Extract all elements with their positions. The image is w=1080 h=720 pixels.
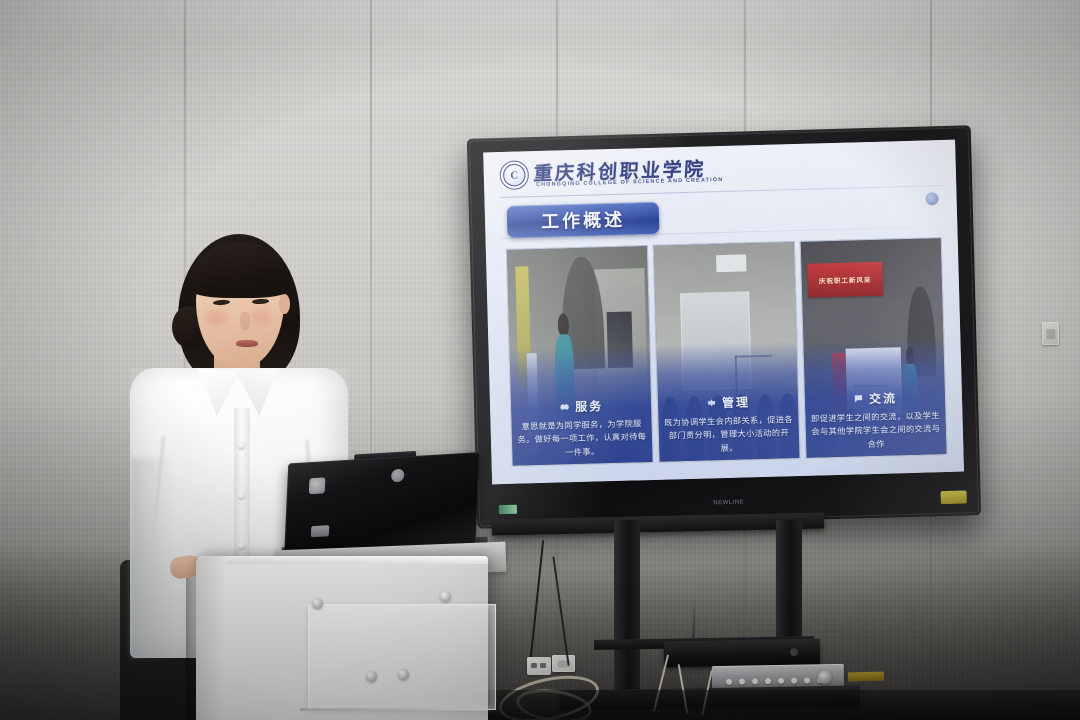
ceiling-light-falloff [0, 0, 1080, 40]
caption-body: 既为协调学生会内部关系，促进各部门责分明，管理大小活动的开展。 [658, 413, 799, 457]
yellow-tape-marker [848, 672, 884, 682]
amplifier-volume-knob[interactable] [818, 670, 832, 684]
presentation-slide: C 重庆科创职业学院 CHONGQING COLLEGE OF SCIENCE … [483, 140, 964, 485]
podium-sign-holder [308, 604, 496, 710]
caption-title: 交流 [869, 390, 897, 408]
podium-bottom-rule [300, 708, 488, 711]
floor-power-outlet[interactable] [527, 657, 551, 675]
display-brand-label: NEWLINE [713, 500, 744, 507]
crest-letter: C [510, 170, 518, 182]
slide-title: 工作概述 [541, 206, 626, 234]
caption-body: 即促进学生之间的交流，以及学生会与其他学院学生会之间的交流与合作 [805, 409, 946, 453]
podium [196, 556, 488, 720]
light-switch-plate[interactable] [1042, 322, 1059, 345]
laptop-lid [284, 452, 480, 556]
slide-title-banner: 工作概述 [507, 202, 660, 238]
sign-standoff [398, 669, 409, 680]
interactive-flat-panel[interactable]: C 重庆科创职业学院 CHONGQING COLLEGE OF SCIENCE … [467, 125, 981, 528]
slide-panel-communication: 庆祝职工新风采 交流 [800, 237, 948, 459]
slide-panel-management: 管理 既为协调学生会内部关系，促进各部门责分明，管理大小活动的开展。 [653, 241, 801, 463]
sign-standoff [366, 671, 377, 682]
media-player[interactable] [664, 639, 820, 668]
display-spec-badge [941, 491, 967, 505]
panel-caption-management: 管理 既为协调学生会内部关系，促进各部门责分明，管理大小活动的开展。 [656, 341, 799, 462]
podium-top-edge [196, 556, 488, 564]
gear-icon [706, 397, 717, 408]
sign-standoff [440, 591, 451, 602]
panel-caption-service: 服务 意思就是为同学服务，为学院服务。做好每一项工作，认真对待每一件事。 [510, 345, 653, 466]
caption-title: 管理 [722, 393, 750, 411]
power-indicator-led [499, 505, 517, 514]
caption-title: 服务 [575, 397, 603, 415]
caption-body: 意思就是为同学服务，为学院服务。做好每一项工作，认真对待每一件事。 [511, 417, 652, 461]
handshake-icon [559, 401, 570, 412]
amplifier-buttons[interactable] [726, 677, 823, 685]
panel-caption-communication: 交流 即促进学生之间的交流，以及学生会与其他学院学生会之间的交流与合作 [803, 337, 946, 458]
screenshot-root: C 重庆科创职业学院 CHONGQING COLLEGE OF SCIENCE … [0, 0, 1080, 720]
podium-left-face [196, 556, 226, 720]
laptop-sticker [309, 477, 326, 494]
slide-panel-service: 服务 意思就是为同学服务，为学院服务。做好每一项工作，认真对待每一件事。 [506, 245, 654, 467]
presenter-arm-shadow [130, 458, 174, 658]
speech-icon [853, 393, 864, 404]
stand-post-left [614, 520, 640, 690]
slide-panel-row: 服务 意思就是为同学服务，为学院服务。做好每一项工作，认真对待每一件事。 [506, 237, 948, 467]
accent-dot-icon [925, 192, 938, 205]
switch-rocker [1046, 329, 1055, 339]
floor [420, 690, 1080, 720]
display-screen[interactable]: C 重庆科创职业学院 CHONGQING COLLEGE OF SCIENCE … [483, 140, 964, 485]
laptop-sticker [311, 525, 329, 537]
event-banner-text: 庆祝职工新风采 [807, 261, 884, 298]
presenter-ear [279, 294, 290, 314]
sign-standoff [312, 598, 323, 609]
event-red-banner: 庆祝职工新风采 [807, 261, 884, 298]
caption-heading-row: 管理 [706, 393, 750, 411]
laptop[interactable] [284, 452, 480, 556]
university-crest-icon: C [499, 160, 529, 190]
power-outlet-plate[interactable] [552, 655, 575, 672]
media-player-button[interactable] [790, 648, 798, 656]
caption-heading-row: 交流 [853, 390, 897, 408]
caption-heading-row: 服务 [559, 397, 603, 415]
